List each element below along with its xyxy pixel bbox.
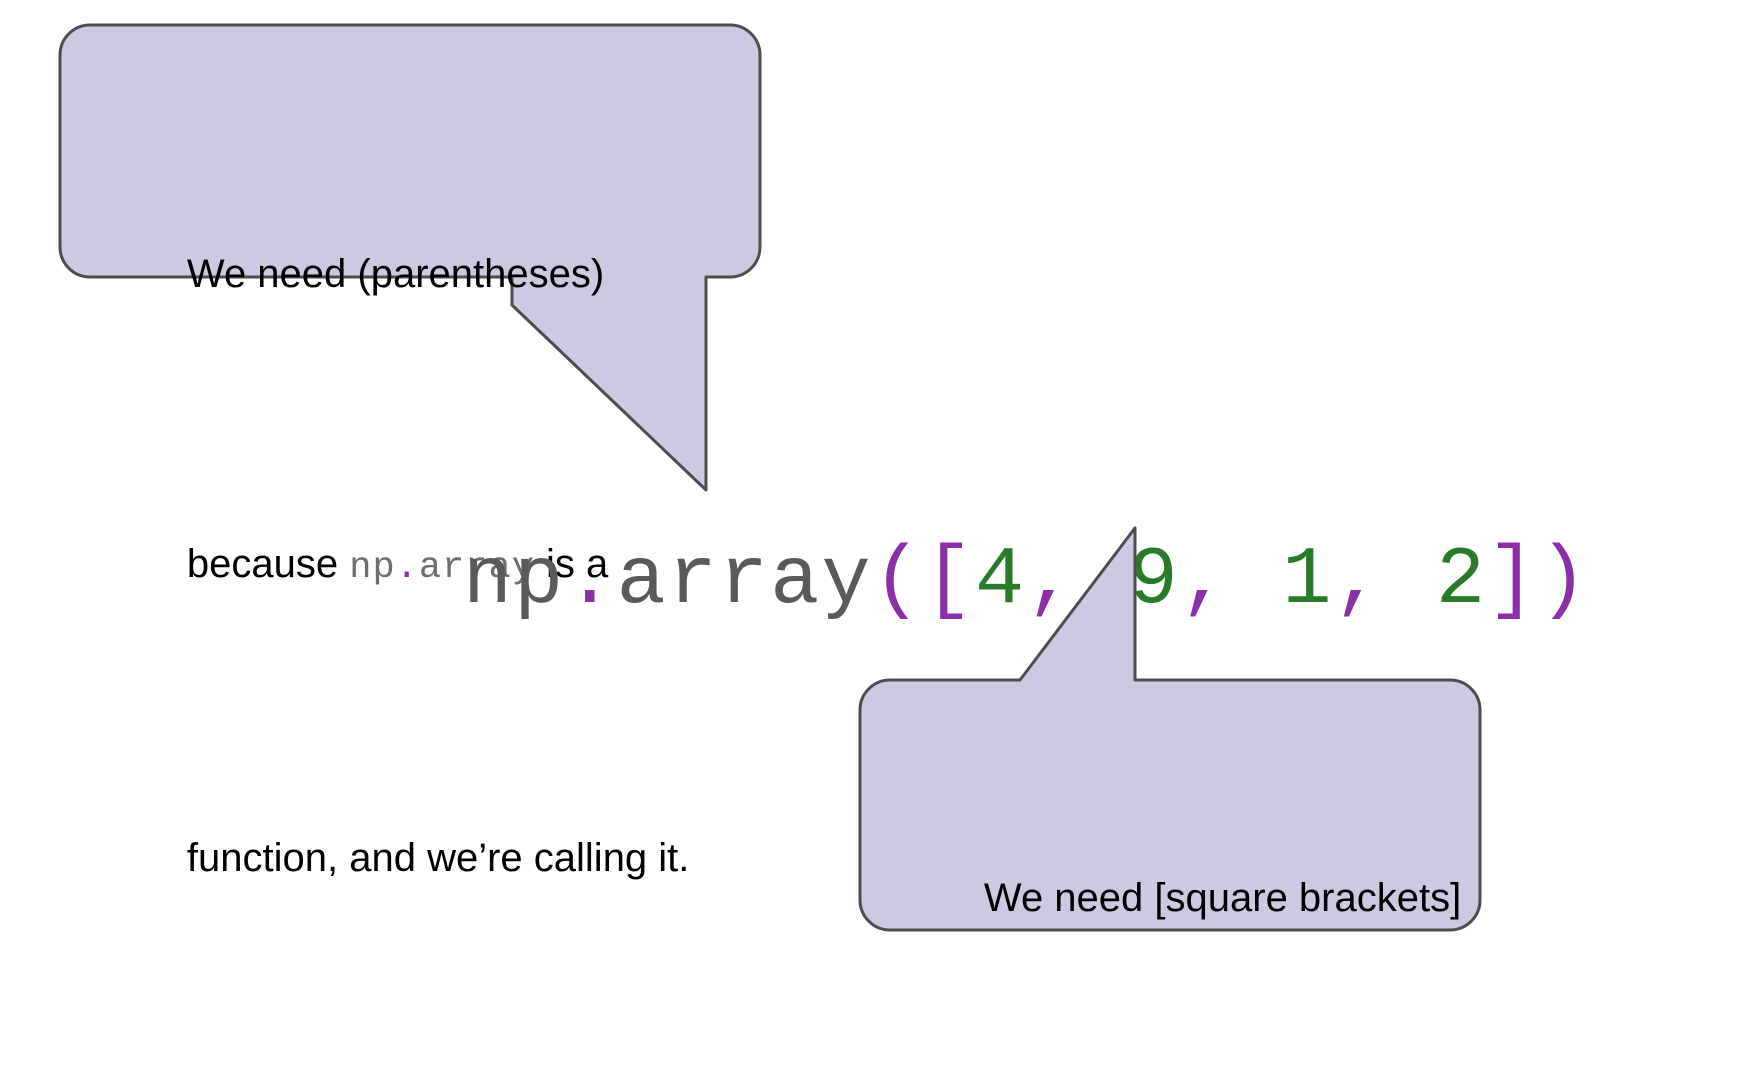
slide-canvas: We need (parentheses) because np.array i… [0,0,1748,1076]
code-dot: . [565,534,616,627]
callout-line-1: We need (parentheses) [98,187,689,361]
callout-line-1-text: We need [square brackets] [984,876,1461,920]
callout-line-3-text: function, and we’re calling it. [187,836,690,880]
code-close-bracket: ] [1487,534,1538,627]
parentheses-callout: We need (parentheses) because np.array i… [60,25,760,495]
code-function: array [616,534,872,627]
code-close-paren: ) [1538,534,1589,627]
callout-line-3: function, and we’re calling it. [98,771,689,945]
callout-text-block: We need [square brackets] because the ar… [895,695,1470,1076]
square-brackets-callout: We need [square brackets] because the ar… [860,520,1480,930]
code-module: np [463,534,565,627]
callout-line-1-text: We need (parentheses) [187,252,604,296]
callout-line-1: We need [square brackets] [895,811,1470,985]
